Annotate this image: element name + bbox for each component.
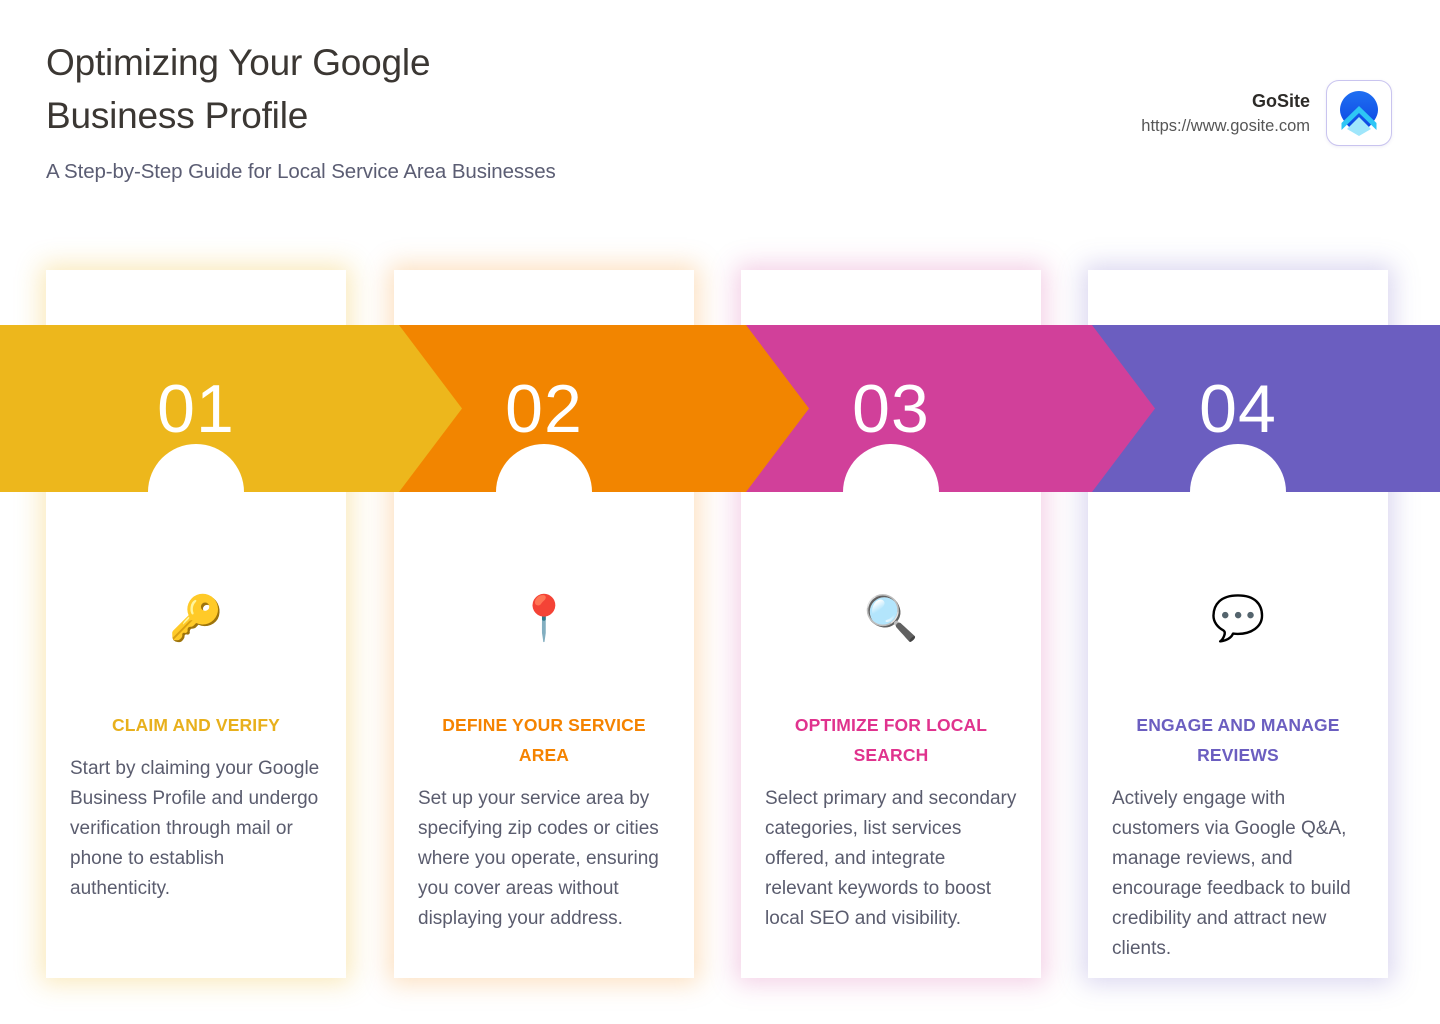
steps-container: 🔑 CLAIM AND VERIFY Start by claiming you… xyxy=(0,0,1440,1024)
key-icon: 🔑 xyxy=(70,580,322,658)
step-description-3: Select primary and secondary categories,… xyxy=(765,784,1017,934)
step-title-2: DEFINE YOUR SERVICE AREA xyxy=(418,710,670,770)
chevron-banner xyxy=(0,325,1440,492)
chevron-segment-1 xyxy=(0,325,462,492)
step-title-4: ENGAGE AND MANAGE REVIEWS xyxy=(1112,710,1364,770)
infographic-page: Optimizing Your Google Business Profile … xyxy=(0,0,1440,1024)
step-description-2: Set up your service area by specifying z… xyxy=(418,784,670,934)
map-pin-icon: 📍 xyxy=(418,580,670,658)
step-description-4: Actively engage with customers via Googl… xyxy=(1112,784,1364,964)
speech-balloon-icon: 💬 xyxy=(1112,580,1364,658)
step-description-1: Start by claiming your Google Business P… xyxy=(70,754,322,904)
step-title-1: CLAIM AND VERIFY xyxy=(70,710,322,740)
magnifying-glass-icon: 🔍 xyxy=(765,580,1017,658)
step-title-3: OPTIMIZE FOR LOCAL SEARCH xyxy=(765,710,1017,770)
